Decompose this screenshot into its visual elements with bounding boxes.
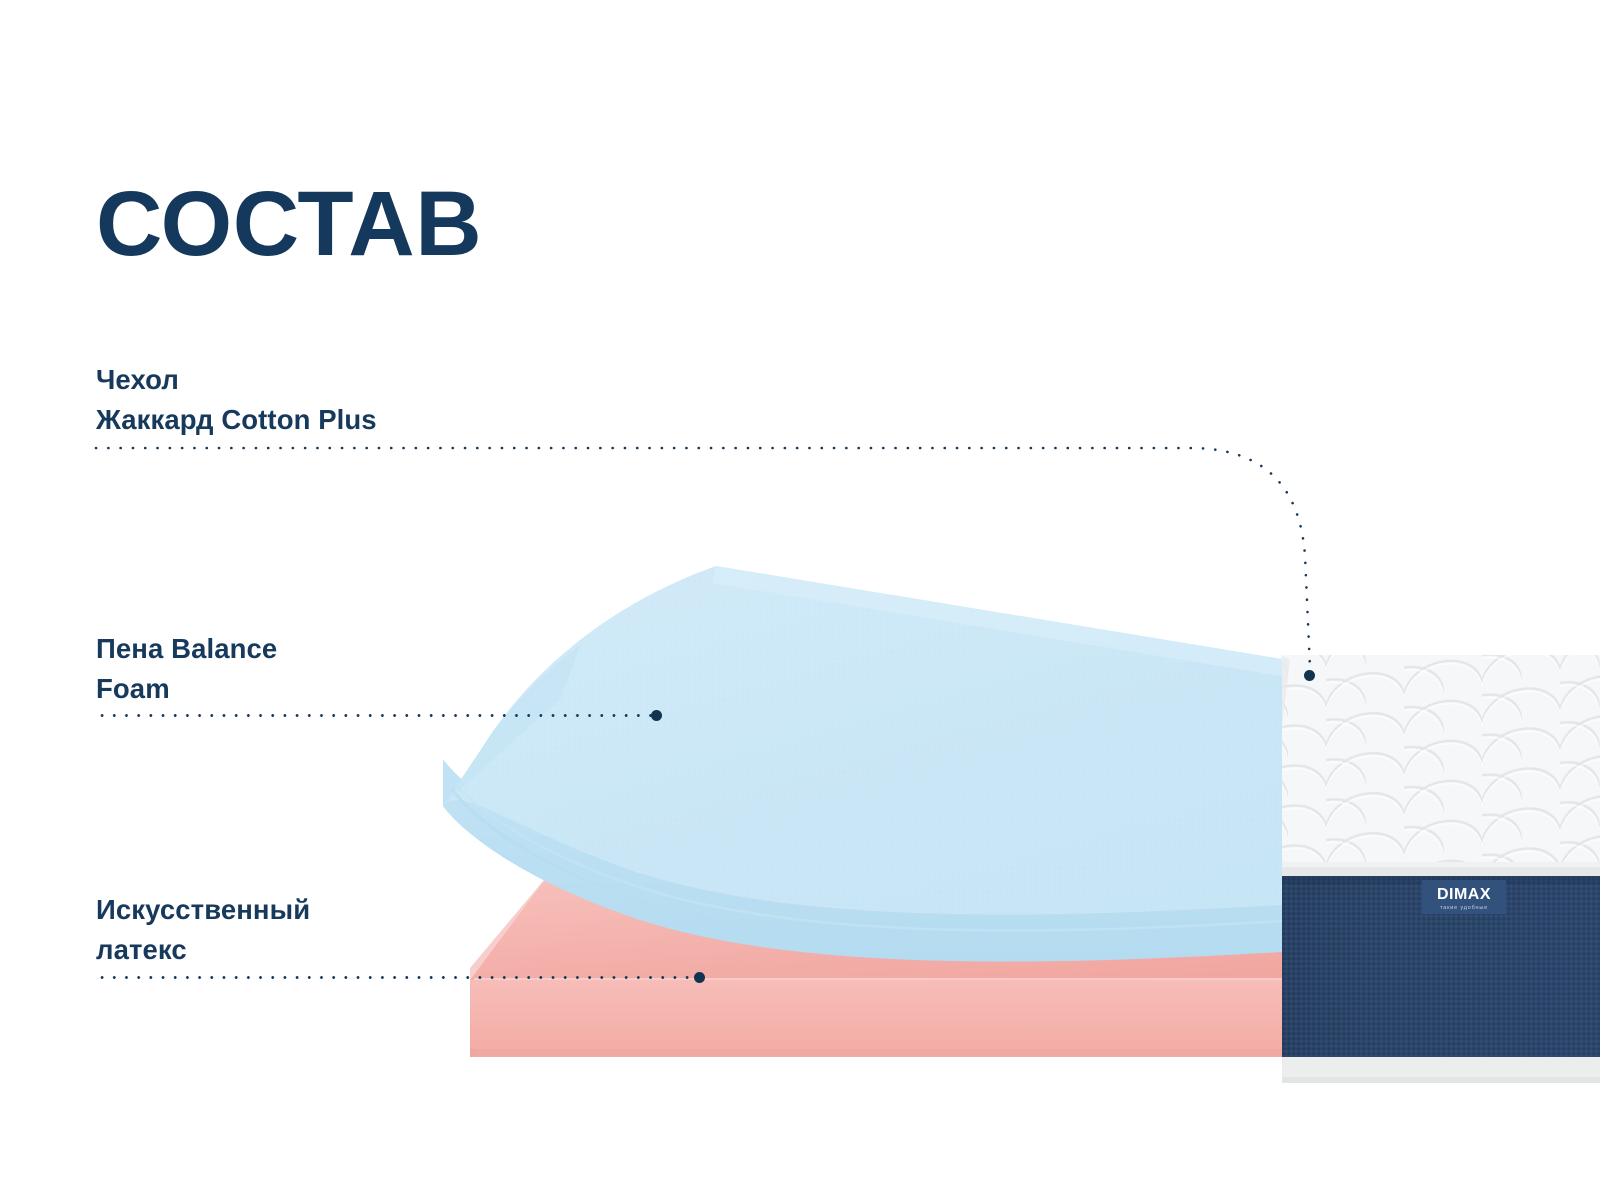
leader-endpoint-latex	[694, 972, 705, 983]
leader-line-foam	[96, 714, 658, 717]
layer-label-foam: Пена Balance Foam	[96, 629, 277, 710]
layer-label-cover: Чехол Жаккард Cotton Plus	[96, 360, 377, 441]
svg-text:DIMAX: DIMAX	[1437, 886, 1491, 903]
cover-layer	[1253, 655, 1600, 876]
leader-endpoint-cover	[1304, 670, 1315, 681]
svg-text:такие удобные: такие удобные	[1440, 905, 1488, 911]
infographic-canvas: DIMAX такие удобные	[0, 0, 1600, 1200]
leader-line-latex	[96, 976, 702, 979]
mattress-base-strip	[1282, 1055, 1600, 1083]
brand-label: DIMAX такие удобные	[1422, 880, 1506, 914]
leader-endpoint-foam	[651, 710, 662, 721]
page-title: СОСТАВ	[96, 178, 482, 270]
layer-label-latex: Искусственный латекс	[96, 890, 310, 971]
